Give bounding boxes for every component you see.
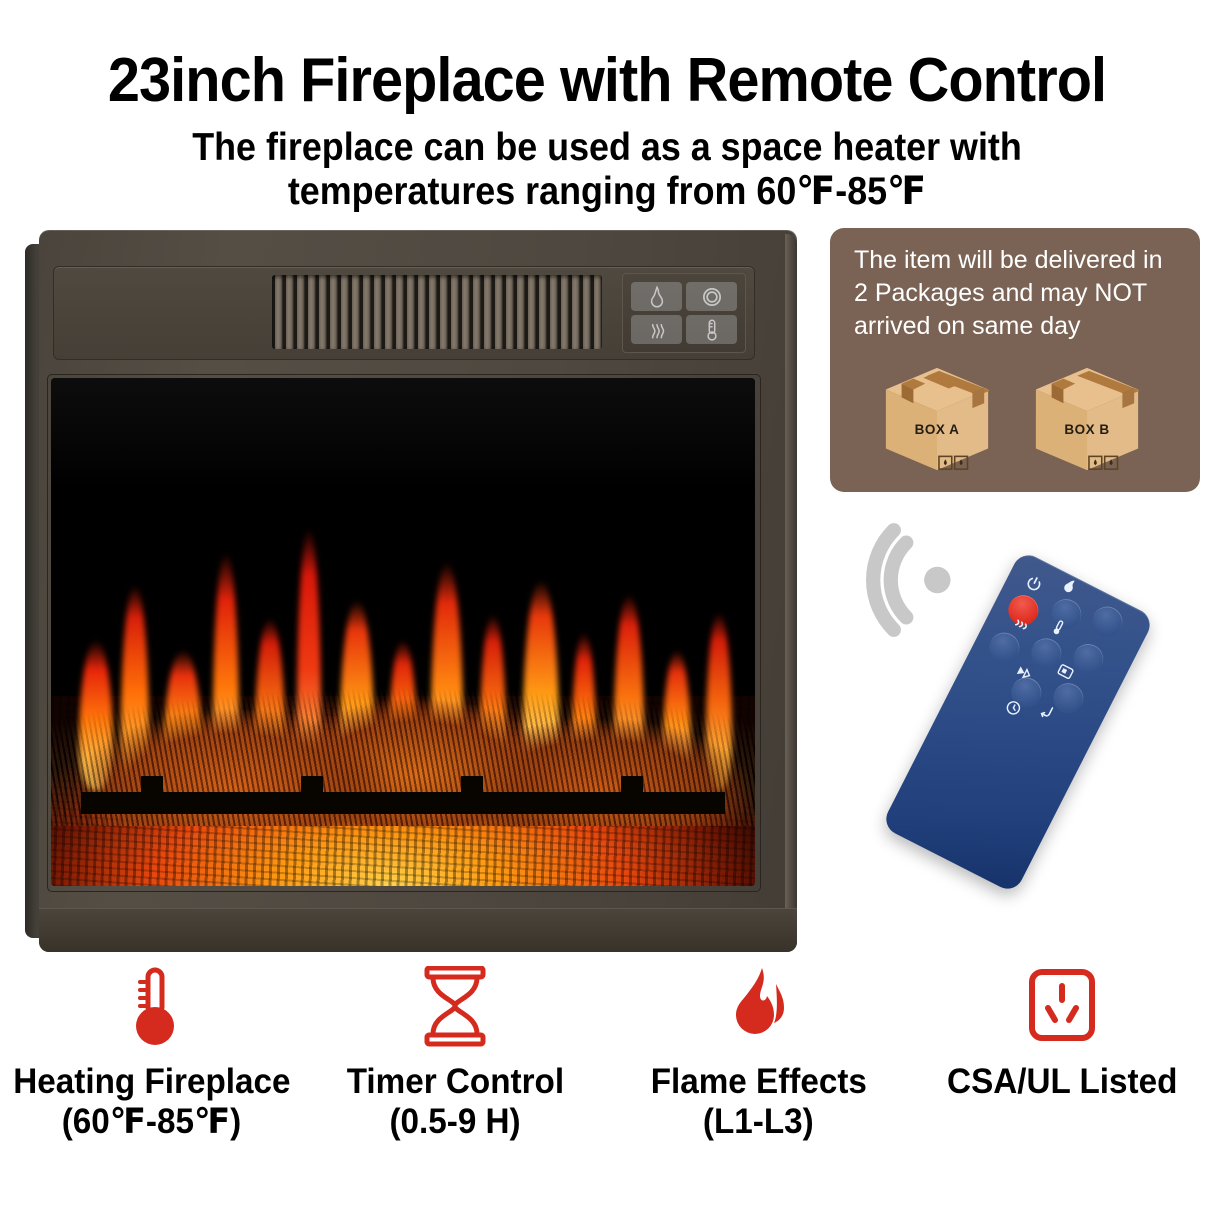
subtitle-line-2: temperatures ranging from 60℉-85℉ — [49, 170, 1166, 214]
package-a-label: BOX A — [878, 422, 996, 437]
thermometer-icon — [122, 962, 182, 1048]
feature-csa-ul-listed: CSA/UL Listed — [911, 962, 1214, 1214]
control-flame-icon[interactable] — [631, 282, 682, 311]
feature-heating-fireplace: Heating Fireplace (60℉-85℉) — [0, 962, 304, 1214]
remote-button-4[interactable] — [984, 627, 1024, 667]
control-power-icon[interactable] — [686, 282, 737, 311]
feature-label-line1: Timer Control — [347, 1062, 564, 1102]
fireplace-bottom-rail — [39, 908, 797, 952]
page-title: 23inch Fireplace with Remote Control — [42, 44, 1171, 118]
feature-label-line2: (0.5-9 H) — [390, 1102, 521, 1142]
hourglass-icon — [419, 962, 491, 1048]
delivery-notice-card: The item will be delivered in 2 Packages… — [830, 228, 1200, 492]
remote-control-illustration — [835, 515, 1214, 895]
feature-row: Heating Fireplace (60℉-85℉) Timer Contro… — [0, 962, 1214, 1214]
feature-label-line1: CSA/UL Listed — [947, 1062, 1177, 1102]
subtitle-line-1: The fireplace can be used as a space hea… — [49, 126, 1166, 170]
vent-grille — [272, 275, 602, 349]
header-block: 23inch Fireplace with Remote Control The… — [0, 0, 1214, 214]
fireplace-right-edge — [785, 234, 797, 946]
fireplace-top-panel — [53, 266, 755, 360]
delivery-notice-text: The item will be delivered in 2 Packages… — [854, 244, 1182, 343]
feature-label-line2: (60℉-85℉) — [62, 1102, 241, 1142]
remote-flame-glyph — [1059, 575, 1082, 598]
fireplace-product-image — [25, 230, 797, 952]
feature-flame-effects: Flame Effects (L1-L3) — [607, 962, 911, 1214]
package-box-b: BOX B — [1028, 360, 1146, 478]
package-b-label: BOX B — [1028, 422, 1146, 437]
control-panel — [622, 273, 746, 353]
flame-icon — [726, 962, 792, 1048]
firebox-frame — [47, 374, 761, 892]
wifi-signal-icon — [822, 502, 978, 658]
grate-bar — [81, 792, 725, 814]
feature-label-line2: (L1-L3) — [703, 1102, 814, 1142]
control-heat-waves-icon[interactable] — [631, 315, 682, 344]
remote-button-3[interactable] — [1087, 601, 1127, 641]
feature-label-line1: Flame Effects — [651, 1062, 867, 1102]
feature-label-line1: Heating Fireplace — [13, 1062, 290, 1102]
control-thermometer-icon[interactable] — [686, 315, 737, 344]
package-box-a: BOX A — [878, 360, 996, 478]
feature-timer-control: Timer Control (0.5-9 H) — [304, 962, 608, 1214]
remote-power-glyph — [1023, 572, 1046, 595]
power-outlet-icon — [1026, 962, 1098, 1048]
